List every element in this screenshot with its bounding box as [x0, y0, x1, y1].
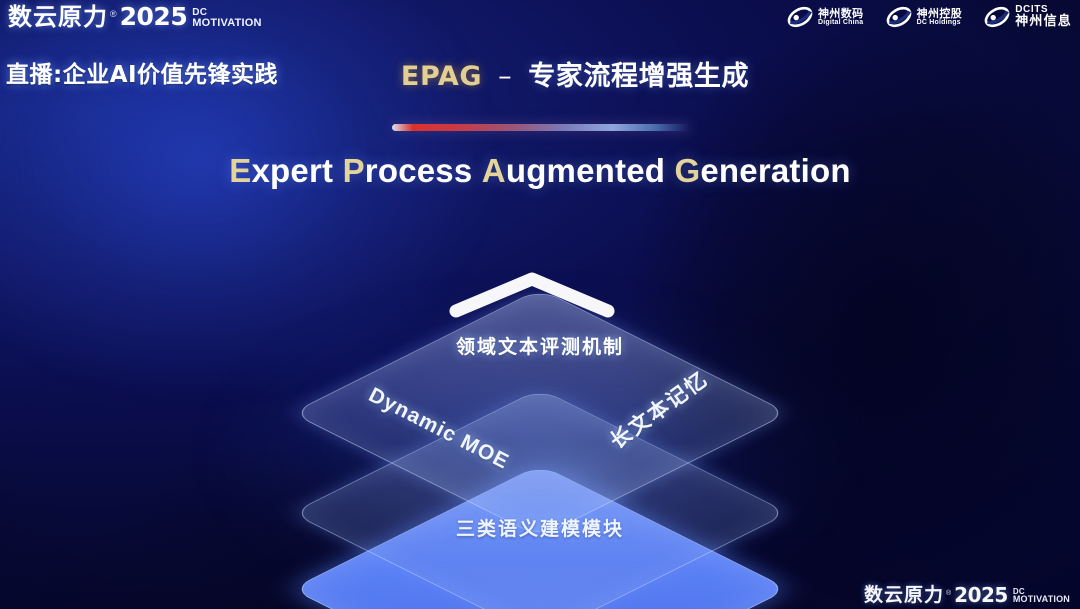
partner-logo-dcits: DCITS 神州信息	[984, 4, 1072, 30]
chevron-up-icon	[448, 271, 616, 319]
partner-logo-group: 神州数码 Digital China 神州控股 DC Holdings	[787, 4, 1072, 30]
partner-name-en: DC Holdings	[917, 19, 963, 26]
footer-brand-registered: ®	[946, 590, 951, 597]
partner-logo-digital-china: 神州数码 Digital China	[787, 4, 864, 30]
subtitle-cap-e: E	[229, 152, 251, 189]
layer-stack-diagram: 领域文本评测机制 Dynamic MOE 长文本记忆 三类语义建模模块	[290, 222, 790, 562]
partner-label: DCITS 神州信息	[1015, 5, 1072, 28]
brand-dc-line2: MOTIVATION	[192, 18, 261, 28]
footer-brand-year: 2025	[954, 585, 1008, 605]
partner-logo-dc-holdings: 神州控股 DC Holdings	[886, 4, 963, 30]
layer-label-bottom: 三类语义建模模块	[290, 514, 790, 541]
brand-name-cn: 数云原力	[8, 5, 108, 29]
subtitle-word-process: rocess	[365, 152, 473, 189]
subtitle-cap-a: A	[482, 152, 506, 189]
partner-name-cn: 神州信息	[1015, 15, 1072, 28]
partner-name-cn: 神州控股	[917, 8, 963, 19]
subtitle-cap-g: G	[675, 152, 701, 189]
title-acronym: EPAG	[401, 61, 482, 92]
brand-year: 2025	[120, 4, 188, 29]
subtitle-word-expert: xpert	[252, 152, 334, 189]
subtitle-word-generation: eneration	[700, 152, 850, 189]
brand-dc-motivation: DC MOTIVATION	[192, 8, 261, 28]
slide-canvas: 数云原力 ® 2025 DC MOTIVATION 直播:企业AI价值先锋实践 …	[0, 0, 1080, 609]
title-name-cn: 专家流程增强生成	[528, 61, 749, 92]
partner-name-cn: 神州数码	[818, 8, 864, 19]
footer-brand-dc-line2: MOTIVATION	[1013, 595, 1070, 604]
brand-registered: ®	[110, 10, 117, 19]
partner-label: 神州数码 Digital China	[818, 8, 864, 26]
subtitle-word-augmented: ugmented	[506, 152, 665, 189]
footer-brand-dc-motivation: DC MOTIVATION	[1013, 588, 1070, 604]
brand-logo: 数云原力 ® 2025 DC MOTIVATION	[8, 4, 262, 29]
swoosh-logo-icon	[984, 4, 1010, 30]
partner-label: 神州控股 DC Holdings	[917, 8, 963, 26]
swoosh-logo-icon	[886, 4, 912, 30]
swoosh-logo-icon	[787, 4, 813, 30]
title-dash: –	[498, 61, 512, 92]
page-title: EPAG – 专家流程增强生成	[0, 54, 1080, 93]
subtitle: Expert Process Augmented Generation	[0, 152, 1080, 190]
layer-label-top: 领域文本评测机制	[290, 332, 790, 359]
diagram-layer-top[interactable]	[290, 222, 790, 512]
partner-name-en: Digital China	[818, 19, 864, 26]
layer-plate-top	[291, 289, 789, 538]
footer-watermark: 数云原力 ® 2025 DC MOTIVATION	[864, 585, 1070, 605]
subtitle-cap-p: P	[343, 152, 365, 189]
title-divider	[392, 124, 690, 131]
footer-brand-name-cn: 数云原力	[864, 586, 944, 605]
